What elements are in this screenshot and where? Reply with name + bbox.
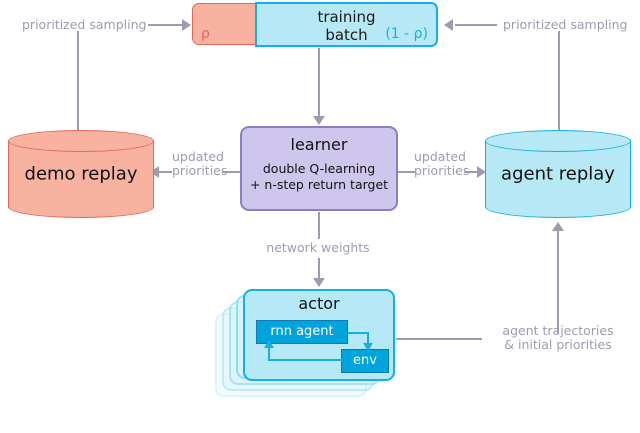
updated-priorities-right-line2: priorities <box>414 164 466 178</box>
env-box: env <box>341 349 389 373</box>
connector-network-weights-upper <box>318 212 320 239</box>
diagram-canvas: prioritized sampling prioritized samplin… <box>0 0 640 433</box>
rho-segment: ρ <box>192 3 256 45</box>
arrowhead-sampling-right <box>444 19 453 31</box>
connector-demo-to-sampling-left <box>77 31 79 136</box>
connector-env-to-rnn-v <box>268 346 270 360</box>
demo-replay-label: demo replay <box>8 164 154 185</box>
arrowhead-rnn-to-env <box>363 343 373 351</box>
rnn-agent-label: rnn agent <box>257 324 347 339</box>
edge-label-network-weights: network weights <box>258 241 378 255</box>
connector-trajectories-v-top <box>557 231 559 257</box>
agent-replay-top-ellipse <box>485 130 631 152</box>
connector-trajectories-h <box>396 338 482 340</box>
arrowhead-env-to-rnn <box>264 340 274 348</box>
actor-title: actor <box>245 294 393 313</box>
agent-replay-label: agent replay <box>485 164 631 185</box>
training-batch-ratio-label: (1 - ρ) <box>385 26 428 42</box>
arrowhead-batch-to-learner <box>313 116 325 125</box>
connector-updated-priorities-left-h <box>158 171 172 173</box>
connector-batch-to-learner <box>318 48 320 118</box>
edge-label-prioritized-sampling-left: prioritized sampling <box>22 18 146 32</box>
figure-caption <box>0 422 640 433</box>
demo-replay-top-ellipse <box>8 130 154 152</box>
edge-label-prioritized-sampling-right: prioritized sampling <box>503 18 627 32</box>
connector-agent-to-sampling-right <box>558 31 560 136</box>
edge-label-updated-priorities-right: updated priorities <box>414 150 466 178</box>
edge-label-agent-trajectories: agent trajectories & initial priorities <box>492 324 624 352</box>
rho-label: ρ <box>201 26 210 42</box>
learner-title: learner <box>242 135 396 154</box>
demo-replay-cylinder: demo replay <box>8 130 154 218</box>
arrowhead-network-weights <box>313 278 325 287</box>
connector-rnn-to-env-h <box>348 332 369 334</box>
arrowhead-trajectories-to-agent-replay <box>552 222 564 231</box>
learner-subtitle-line2: + n-step return target <box>242 177 396 193</box>
learner-subtitle: double Q-learning + n-step return target <box>242 161 396 193</box>
arrowhead-sampling-left <box>182 19 191 31</box>
agent-replay-cylinder: agent replay <box>485 130 631 218</box>
edge-label-updated-priorities-left: updated priorities <box>172 150 224 178</box>
learner-box: learner double Q-learning + n-step retur… <box>240 126 398 211</box>
agent-trajectories-line2: & initial priorities <box>492 338 624 352</box>
updated-priorities-left-line1: updated <box>172 150 224 164</box>
updated-priorities-right-line1: updated <box>414 150 466 164</box>
connector-env-to-rnn-h <box>268 359 342 361</box>
training-batch-box: training batch (1 - ρ) <box>255 2 438 47</box>
training-batch-title-line1: training <box>257 8 436 26</box>
env-label: env <box>342 353 388 368</box>
connector-sampling-left-h <box>148 24 184 26</box>
connector-sampling-right-h <box>455 24 497 26</box>
connector-trajectories-v <box>557 255 559 333</box>
agent-trajectories-line1: agent trajectories <box>492 324 624 338</box>
updated-priorities-left-line2: priorities <box>172 164 224 178</box>
learner-subtitle-line1: double Q-learning <box>242 161 396 177</box>
connector-network-weights-lower <box>318 258 320 280</box>
